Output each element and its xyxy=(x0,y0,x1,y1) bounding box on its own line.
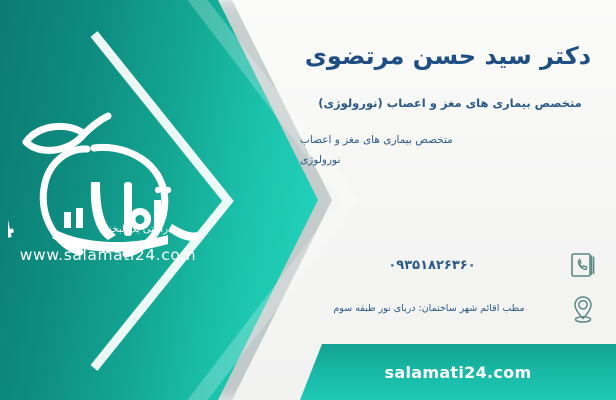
specialty-main: متخصص بیماری های مغز و اعصاب (نورولوژی) xyxy=(294,96,606,110)
specialty-sub-line-2: نورولوژی xyxy=(300,150,598,170)
doctor-name: دکتر سید حسن مرتضوی xyxy=(298,42,598,70)
footer-bar: salamati24.com xyxy=(300,344,616,400)
address-text: مطب اقائم شهر ساختمان: دریای نور طبقه سو… xyxy=(290,302,566,316)
contact-row-phone: ۰۹۳۵۱۸۲۶۳۶۰ xyxy=(300,248,600,282)
specialty-sub-line-1: متخصص بیماری های مغز و اعصاب xyxy=(300,130,598,150)
logo-tagline: به راحتی یک لبخند xyxy=(104,224,214,235)
business-card: 24 به راحتی یک لبخند www.salamati24.com … xyxy=(0,0,616,400)
phone-number: ۰۹۳۵۱۸۲۶۳۶۰ xyxy=(300,258,566,273)
location-pin-icon xyxy=(566,292,600,326)
specialty-sub: متخصص بیماری های مغز و اعصاب نورولوژی xyxy=(300,130,598,170)
contact-row-address: مطب اقائم شهر ساختمان: دریای نور طبقه سو… xyxy=(290,292,600,326)
phonebook-icon xyxy=(566,248,600,282)
logo-website: www.salamati24.com xyxy=(10,246,206,264)
footer-website: salamati24.com xyxy=(385,363,532,382)
